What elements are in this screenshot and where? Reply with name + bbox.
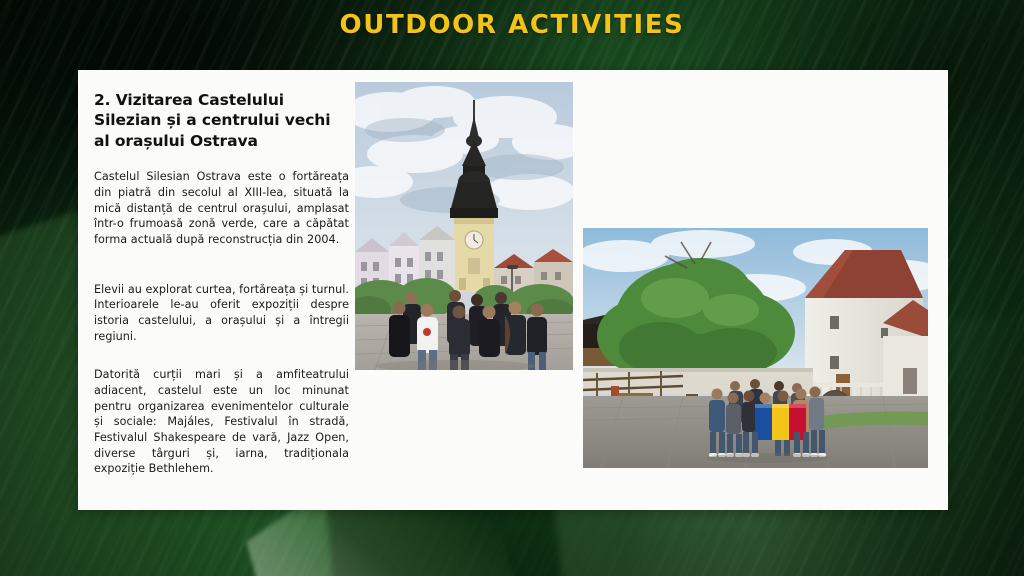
silesian-ostrava-castle-photo: [583, 228, 928, 468]
section-heading: 2. Vizitarea Castelului Silezian și a ce…: [94, 90, 349, 151]
text-column: 2. Vizitarea Castelului Silezian și a ce…: [94, 90, 349, 477]
body-paragraph-1: Castelul Silesian Ostrava este o fortăre…: [94, 169, 349, 247]
ostrava-town-hall-square-photo: [355, 82, 573, 370]
content-panel: 2. Vizitarea Castelului Silezian și a ce…: [78, 70, 948, 510]
slide-title: OUTDOOR ACTIVITIES: [0, 10, 1024, 40]
body-paragraph-2: Elevii au explorat curtea, fortăreața și…: [94, 282, 349, 345]
slide-root: OUTDOOR ACTIVITIES 2. Vizitarea Castelul…: [0, 0, 1024, 576]
body-paragraph-3: Datorită curții mari și a amfiteatrului …: [94, 367, 349, 477]
